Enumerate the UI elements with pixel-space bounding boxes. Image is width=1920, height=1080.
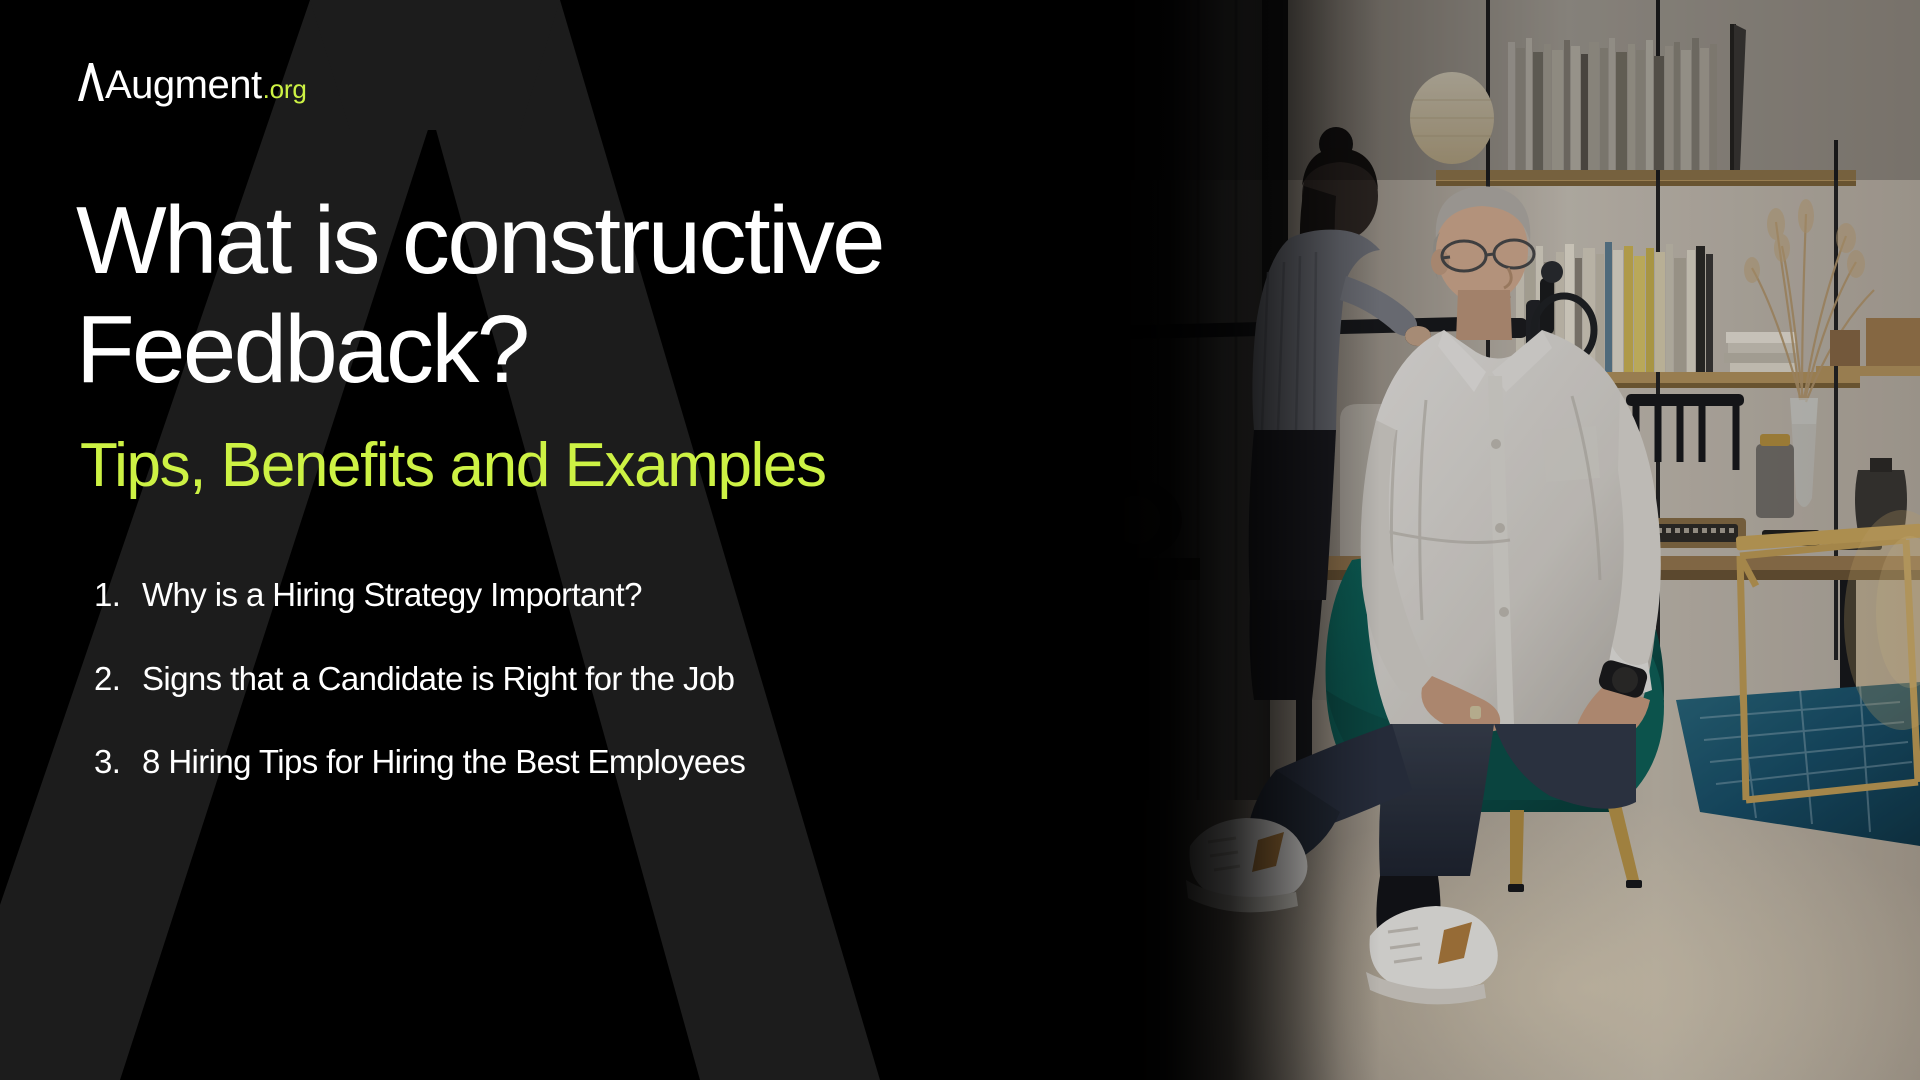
page-subtitle: Tips, Benefits and Examples xyxy=(80,432,980,500)
list-item-label: 8 Hiring Tips for Hiring the Best Employ… xyxy=(142,742,745,782)
page-title: What is constructive Feedback? xyxy=(76,186,976,405)
headline-line-2: Feedback? xyxy=(76,296,528,403)
content-column: Augment .org What is constructive Feedba… xyxy=(0,0,1000,1080)
brand-logo[interactable]: Augment .org xyxy=(76,60,307,105)
list-item: 3. 8 Hiring Tips for Hiring the Best Emp… xyxy=(94,742,974,782)
hero-photo xyxy=(1040,0,1920,1080)
headline-line-1: What is constructive xyxy=(76,187,883,294)
list-item-label: Signs that a Candidate is Right for the … xyxy=(142,659,734,699)
list-item: 2. Signs that a Candidate is Right for t… xyxy=(94,659,974,699)
list-item-label: Why is a Hiring Strategy Important? xyxy=(142,575,642,615)
table-of-contents: 1. Why is a Hiring Strategy Important? 2… xyxy=(94,575,974,782)
lambda-a-icon xyxy=(76,63,104,101)
list-item-number: 2. xyxy=(94,659,142,699)
list-item-number: 1. xyxy=(94,575,142,615)
list-item: 1. Why is a Hiring Strategy Important? xyxy=(94,575,974,615)
slide-canvas: Augment .org What is constructive Feedba… xyxy=(0,0,1920,1080)
list-item-number: 3. xyxy=(94,742,142,782)
brand-name: Augment xyxy=(105,65,262,105)
brand-tld: .org xyxy=(263,76,307,102)
